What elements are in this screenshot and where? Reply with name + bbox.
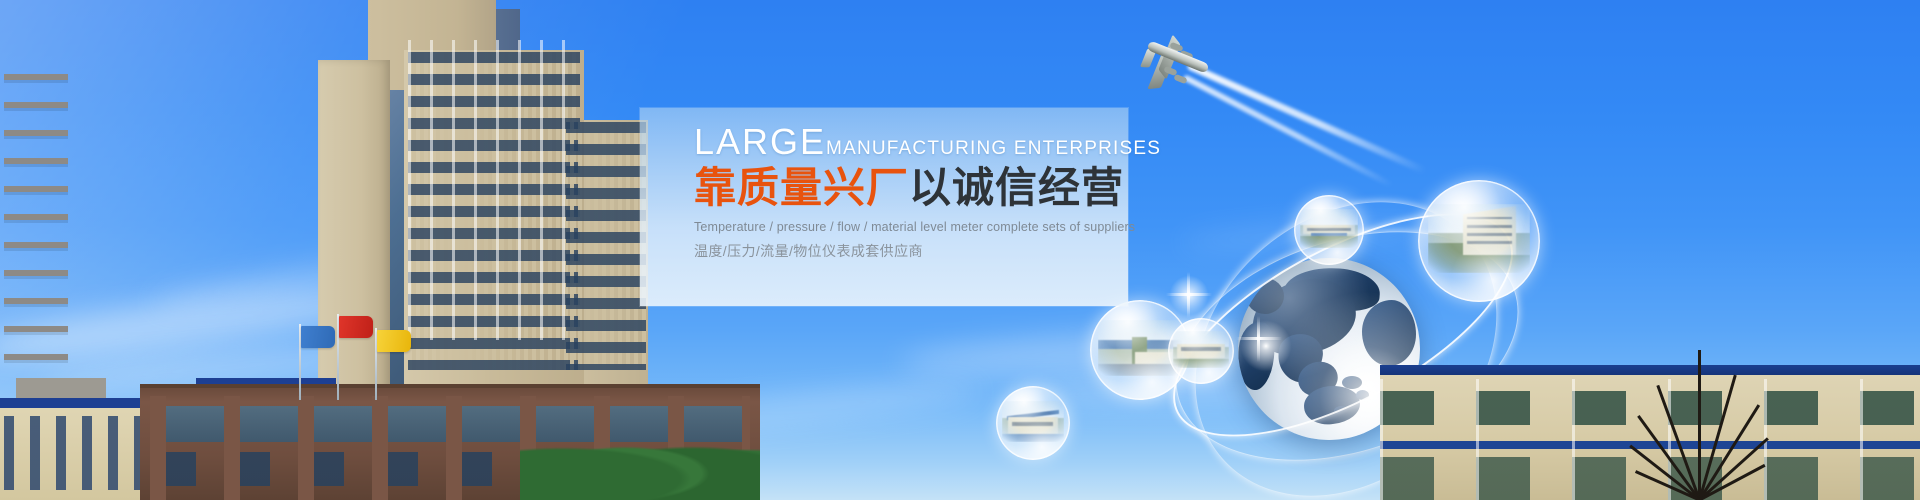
bubble-office-building [1418, 180, 1540, 302]
headline-chinese-dark: 以诚信经营 [909, 164, 1124, 211]
headline-english: LARGEMANUFACTURING ENTERPRISES [694, 124, 1114, 160]
bubble-photo [1173, 331, 1228, 368]
headline-chinese: 靠质量兴厂以诚信经营 [694, 164, 1114, 211]
sparkle-icon [1166, 272, 1212, 318]
bubble-photo [1428, 204, 1530, 272]
flag-blue [301, 326, 335, 348]
bubble-photo [1002, 401, 1064, 442]
sparkle-icon [1236, 316, 1296, 376]
hero-banner: LARGEMANUFACTURING ENTERPRISES 靠质量兴厂以诚信经… [0, 0, 1920, 500]
flag-red [339, 316, 373, 338]
flag-yellow [377, 330, 411, 352]
facade-mullions [408, 40, 580, 340]
headline-panel: LARGEMANUFACTURING ENTERPRISES 靠质量兴厂以诚信经… [640, 108, 1128, 306]
headline-large-word: LARGE [694, 121, 826, 162]
bare-tree [1640, 340, 1760, 500]
bubble-factory-aerial [1294, 195, 1364, 265]
headline-chinese-orange: 靠质量兴厂 [694, 164, 909, 211]
headline-subword: MANUFACTURING ENTERPRISES [826, 138, 1161, 159]
bubble-facility [1168, 318, 1234, 384]
subtitle-chinese: 温度/压力/流量/物位仪表成套供应商 [694, 239, 1114, 264]
subtitle-english: Temperature / pressure / flow / material… [694, 217, 1114, 237]
bubble-photo [1300, 209, 1359, 248]
tree-cluster [520, 430, 760, 500]
airplane-icon [1130, 24, 1450, 144]
bubble-warehouse [996, 386, 1070, 460]
